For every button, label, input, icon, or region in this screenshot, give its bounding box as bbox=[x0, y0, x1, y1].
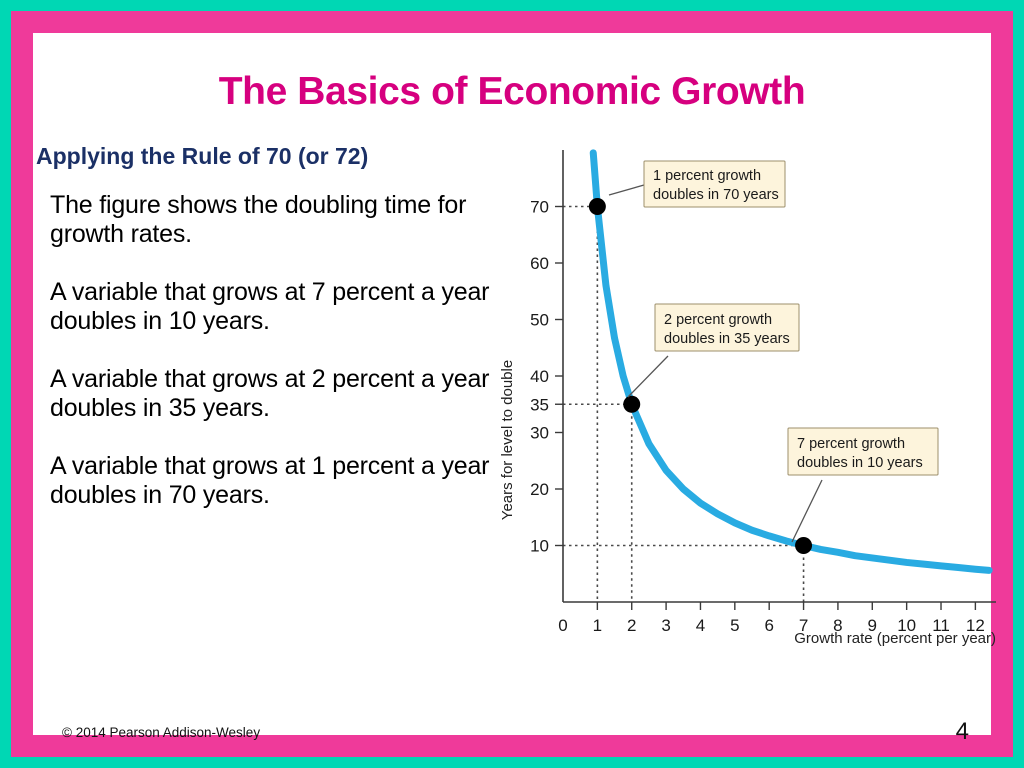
slide-content: The Basics of Economic Growth Applying t… bbox=[0, 0, 1024, 768]
y-tick-label: 10 bbox=[530, 537, 549, 556]
y-tick-label: 20 bbox=[530, 480, 549, 499]
doubling-time-chart: Years for level to double Growth rate (p… bbox=[496, 140, 1006, 660]
data-point-marker bbox=[795, 537, 812, 554]
callout-7pct-line2: doubles in 10 years bbox=[797, 455, 923, 471]
y-tick-label: 70 bbox=[530, 198, 549, 217]
callout-2pct-leader bbox=[628, 356, 668, 397]
bullet-item-3: A variable that grows at 2 percent a yea… bbox=[50, 365, 504, 422]
y-tick-label: 60 bbox=[530, 254, 549, 273]
x-tick-label: 6 bbox=[764, 616, 773, 635]
x-tick-label: 3 bbox=[661, 616, 670, 635]
x-tick-label: 5 bbox=[730, 616, 739, 635]
doubling-time-curve bbox=[593, 153, 989, 571]
x-tick-label: 0 bbox=[558, 616, 567, 635]
y-axis-ticks: 1020303540506070 bbox=[530, 198, 563, 556]
x-tick-label: 1 bbox=[593, 616, 602, 635]
section-heading: Applying the Rule of 70 (or 72) bbox=[36, 144, 504, 169]
page-title: The Basics of Economic Growth bbox=[0, 70, 1024, 114]
y-axis-label: Years for level to double bbox=[499, 360, 516, 520]
x-tick-label: 7 bbox=[799, 616, 808, 635]
slide: The Basics of Economic Growth Applying t… bbox=[0, 0, 1024, 768]
x-tick-label: 9 bbox=[868, 616, 877, 635]
x-tick-label: 2 bbox=[627, 616, 636, 635]
callout-1pct: 1 percent growth doubles in 70 years bbox=[609, 161, 785, 207]
callout-1pct-leader bbox=[609, 185, 644, 195]
y-tick-label: 50 bbox=[530, 311, 549, 330]
bullet-item-4: A variable that grows at 1 percent a yea… bbox=[50, 452, 504, 509]
chart-svg: Years for level to double Growth rate (p… bbox=[496, 140, 1006, 660]
text-column: Applying the Rule of 70 (or 72) The figu… bbox=[36, 144, 504, 509]
callout-1pct-line1: 1 percent growth bbox=[653, 168, 761, 184]
bullet-item-1: The figure shows the doubling time for g… bbox=[50, 191, 504, 248]
callout-2pct: 2 percent growth doubles in 35 years bbox=[628, 304, 799, 397]
x-tick-label: 11 bbox=[932, 616, 950, 635]
callout-2pct-line1: 2 percent growth bbox=[664, 312, 772, 328]
x-tick-label: 10 bbox=[897, 616, 916, 635]
data-point-marker bbox=[623, 396, 640, 413]
x-tick-label: 8 bbox=[833, 616, 842, 635]
callout-7pct: 7 percent growth doubles in 10 years bbox=[788, 428, 938, 542]
guide-lines bbox=[563, 207, 804, 603]
callout-2pct-line2: doubles in 35 years bbox=[664, 331, 790, 347]
x-tick-label: 12 bbox=[966, 616, 985, 635]
page-number: 4 bbox=[956, 718, 969, 746]
data-point-marker bbox=[589, 198, 606, 215]
y-tick-label: 35 bbox=[530, 395, 549, 414]
callout-7pct-line1: 7 percent growth bbox=[797, 436, 905, 452]
copyright-notice: © 2014 Pearson Addison-Wesley bbox=[62, 725, 260, 740]
y-tick-label: 30 bbox=[530, 424, 549, 443]
y-tick-label: 40 bbox=[530, 367, 549, 386]
x-tick-label: 4 bbox=[696, 616, 705, 635]
bullet-item-2: A variable that grows at 7 percent a yea… bbox=[50, 278, 504, 335]
callout-7pct-leader bbox=[792, 480, 822, 542]
callout-1pct-line2: doubles in 70 years bbox=[653, 187, 779, 203]
